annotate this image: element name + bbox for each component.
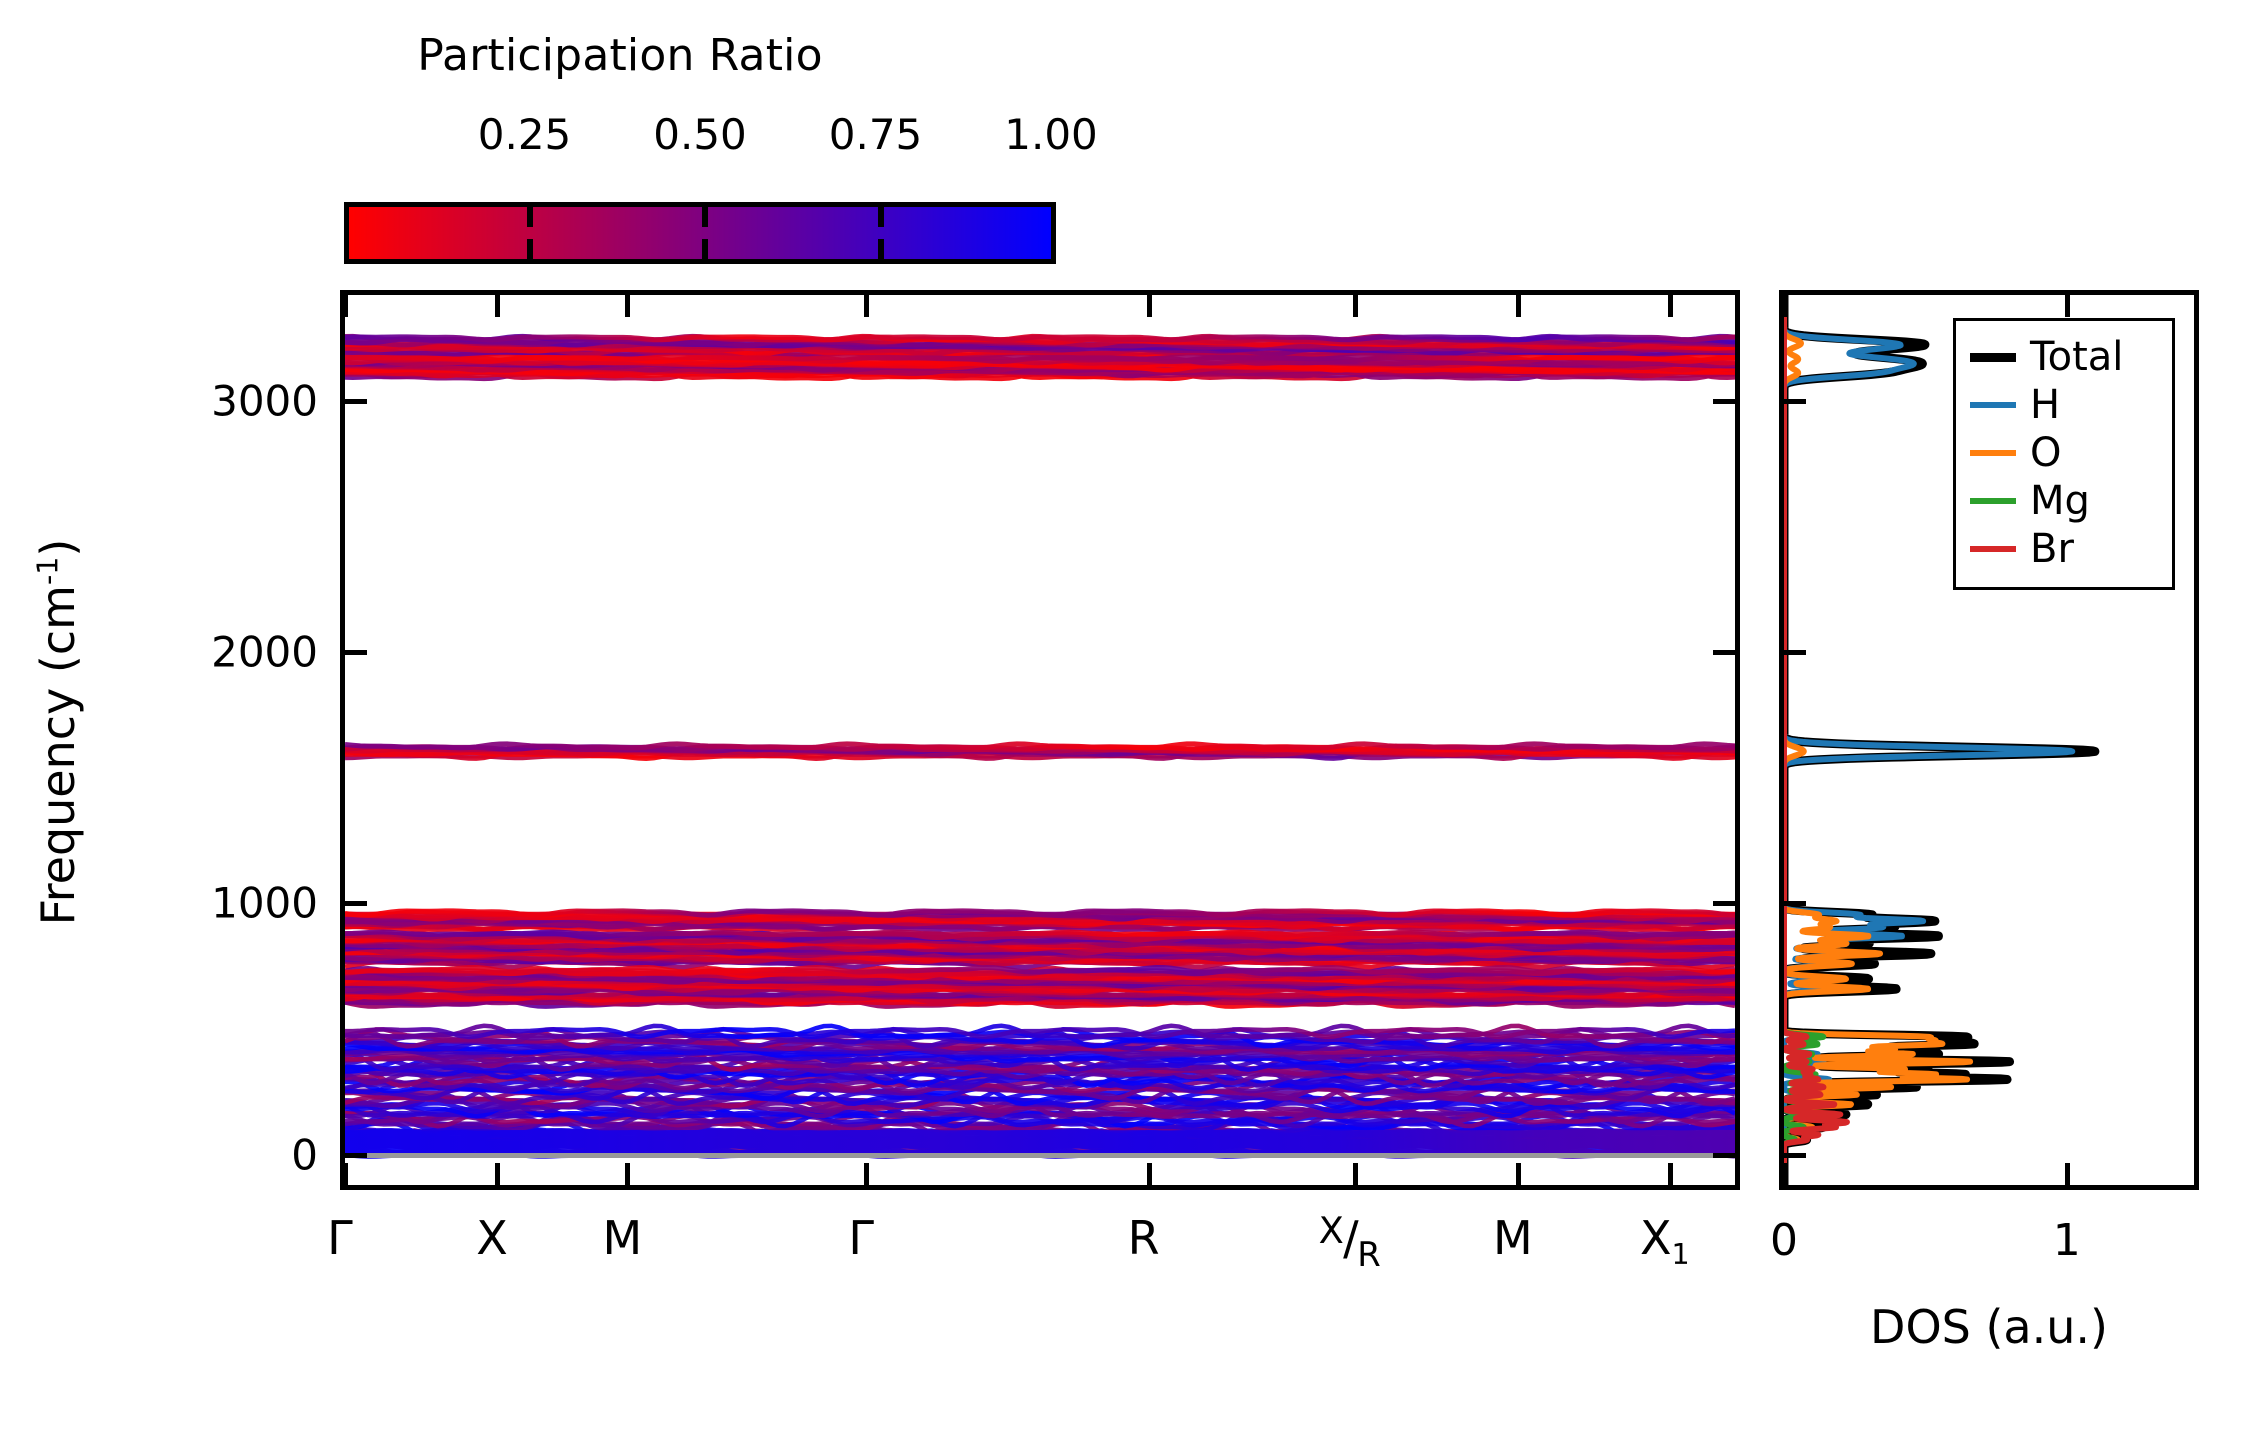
- dos-x-tick-0: [1782, 1163, 1787, 1185]
- dos-x-tick-1: [2065, 1163, 2070, 1185]
- band-y-axis-label-tail: ): [31, 539, 85, 557]
- band-x-tick-label-2: M: [602, 1215, 642, 1261]
- band-y-tick-label-2: 2000: [211, 628, 318, 677]
- colorbar-tick-labels: 0.250.500.751.00: [340, 110, 1100, 162]
- band-y-tick-1: [345, 901, 367, 906]
- band-y-tick-3: [345, 399, 367, 404]
- band-x-tick-label-1: X: [476, 1215, 508, 1261]
- dos-y-tick-0: [1784, 1153, 1806, 1158]
- legend-label-total: Total: [2030, 337, 2123, 377]
- legend-swatch-h: [1970, 402, 2016, 408]
- band-y-axis-label-exponent: -1: [32, 557, 65, 585]
- dos-y-tick-1: [1784, 901, 1806, 906]
- dos-x-tick-labels: 01: [1779, 1215, 2199, 1285]
- colorbar-title: Participation Ratio: [340, 30, 900, 81]
- legend-item-h[interactable]: H: [1970, 381, 2158, 429]
- colorbar-tick-2: [878, 207, 884, 227]
- band-y-tick-right-3: [1713, 399, 1735, 404]
- band-x-tick-label-5: X/R: [1318, 1215, 1382, 1261]
- band-x-tick-label-3: Γ: [848, 1215, 874, 1261]
- legend-label-br: Br: [2030, 529, 2074, 569]
- band-x-tick-top-5: [1353, 295, 1358, 317]
- dos-x-tick-top-0: [1782, 295, 1787, 317]
- colorbar-tick-1: [702, 239, 708, 259]
- dos-x-tick-label-1: 1: [2053, 1215, 2081, 1266]
- colorbar-tick-label-1: 0.50: [653, 110, 747, 159]
- dos-x-tick-label-0: 0: [1770, 1215, 1798, 1266]
- colorbar-tick-2: [878, 239, 884, 259]
- band-y-tick-label-3: 3000: [211, 376, 318, 425]
- band-x-tick-2: [625, 1163, 630, 1185]
- colorbar-tick-0: [527, 239, 533, 259]
- band-x-tick-top-7: [1668, 295, 1673, 317]
- legend-swatch-br: [1970, 546, 2016, 552]
- colorbar-tick-0: [527, 207, 533, 227]
- band-x-tick-top-4: [1147, 295, 1152, 317]
- band-structure-curves: [345, 295, 1735, 1185]
- band-structure-axes: [340, 290, 1740, 1190]
- band-y-tick-labels: 0100020003000: [80, 290, 318, 1190]
- colorbar-tick-label-2: 0.75: [829, 110, 923, 159]
- band-x-tick-3: [864, 1163, 869, 1185]
- band-x-tick-top-6: [1516, 295, 1521, 317]
- dos-y-tick-3: [1784, 399, 1806, 404]
- zero-frequency-line: [345, 1153, 1735, 1158]
- band-y-tick-right-0: [1713, 1153, 1735, 1158]
- legend-item-total[interactable]: Total: [1970, 333, 2158, 381]
- dos-y-tick-2: [1784, 650, 1806, 655]
- legend-swatch-mg: [1970, 498, 2016, 504]
- band-x-tick-7: [1668, 1163, 1673, 1185]
- legend-item-mg[interactable]: Mg: [1970, 477, 2158, 525]
- legend-label-mg: Mg: [2030, 481, 2090, 521]
- legend-label-o: O: [2030, 433, 2061, 473]
- band-x-tick-6: [1516, 1163, 1521, 1185]
- band-x-tick-0: [343, 1163, 348, 1185]
- band-y-axis-label: Frequency (cm-1): [31, 282, 85, 1182]
- band-y-tick-0: [345, 1153, 367, 1158]
- legend-label-h: H: [2030, 385, 2060, 425]
- colorbar-gradient: [349, 207, 1051, 259]
- band-y-tick-label-0: 0: [291, 1130, 318, 1179]
- dos-x-axis-label: DOS (a.u.): [1779, 1300, 2199, 1354]
- dos-legend: TotalHOMgBr: [1953, 318, 2175, 590]
- band-y-tick-right-1: [1713, 901, 1735, 906]
- colorbar: [344, 202, 1056, 264]
- band-x-tick-labels: ΓXMΓRX/RMX1: [340, 1215, 1740, 1325]
- band-x-tick-label-7: X1: [1640, 1215, 1690, 1270]
- band-y-tick-label-1: 1000: [211, 879, 318, 928]
- band-y-tick-2: [345, 650, 367, 655]
- legend-swatch-o: [1970, 450, 2016, 456]
- legend-item-br[interactable]: Br: [1970, 525, 2158, 573]
- band-x-tick-top-0: [343, 295, 348, 317]
- legend-item-o[interactable]: O: [1970, 429, 2158, 477]
- band-structure-plot-area: [345, 295, 1735, 1185]
- band-x-tick-4: [1147, 1163, 1152, 1185]
- band-x-tick-1: [495, 1163, 500, 1185]
- band-x-tick-top-3: [864, 295, 869, 317]
- figure-root: Participation Ratio 0.250.500.751.00 010…: [0, 0, 2259, 1455]
- band-x-tick-top-1: [495, 295, 500, 317]
- legend-swatch-total: [1970, 353, 2016, 362]
- band-y-axis-label-text: Frequency (cm: [31, 585, 85, 925]
- band-x-tick-label-0: Γ: [327, 1215, 353, 1261]
- band-x-tick-5: [1353, 1163, 1358, 1185]
- band-y-tick-right-2: [1713, 650, 1735, 655]
- band-x-tick-top-2: [625, 295, 630, 317]
- colorbar-tick-label-3: 1.00: [1004, 110, 1098, 159]
- colorbar-tick-1: [702, 207, 708, 227]
- colorbar-tick-label-0: 0.25: [478, 110, 572, 159]
- band-x-tick-label-4: R: [1128, 1215, 1160, 1261]
- band-x-tick-label-6: M: [1493, 1215, 1533, 1261]
- dos-x-tick-top-1: [2065, 295, 2070, 317]
